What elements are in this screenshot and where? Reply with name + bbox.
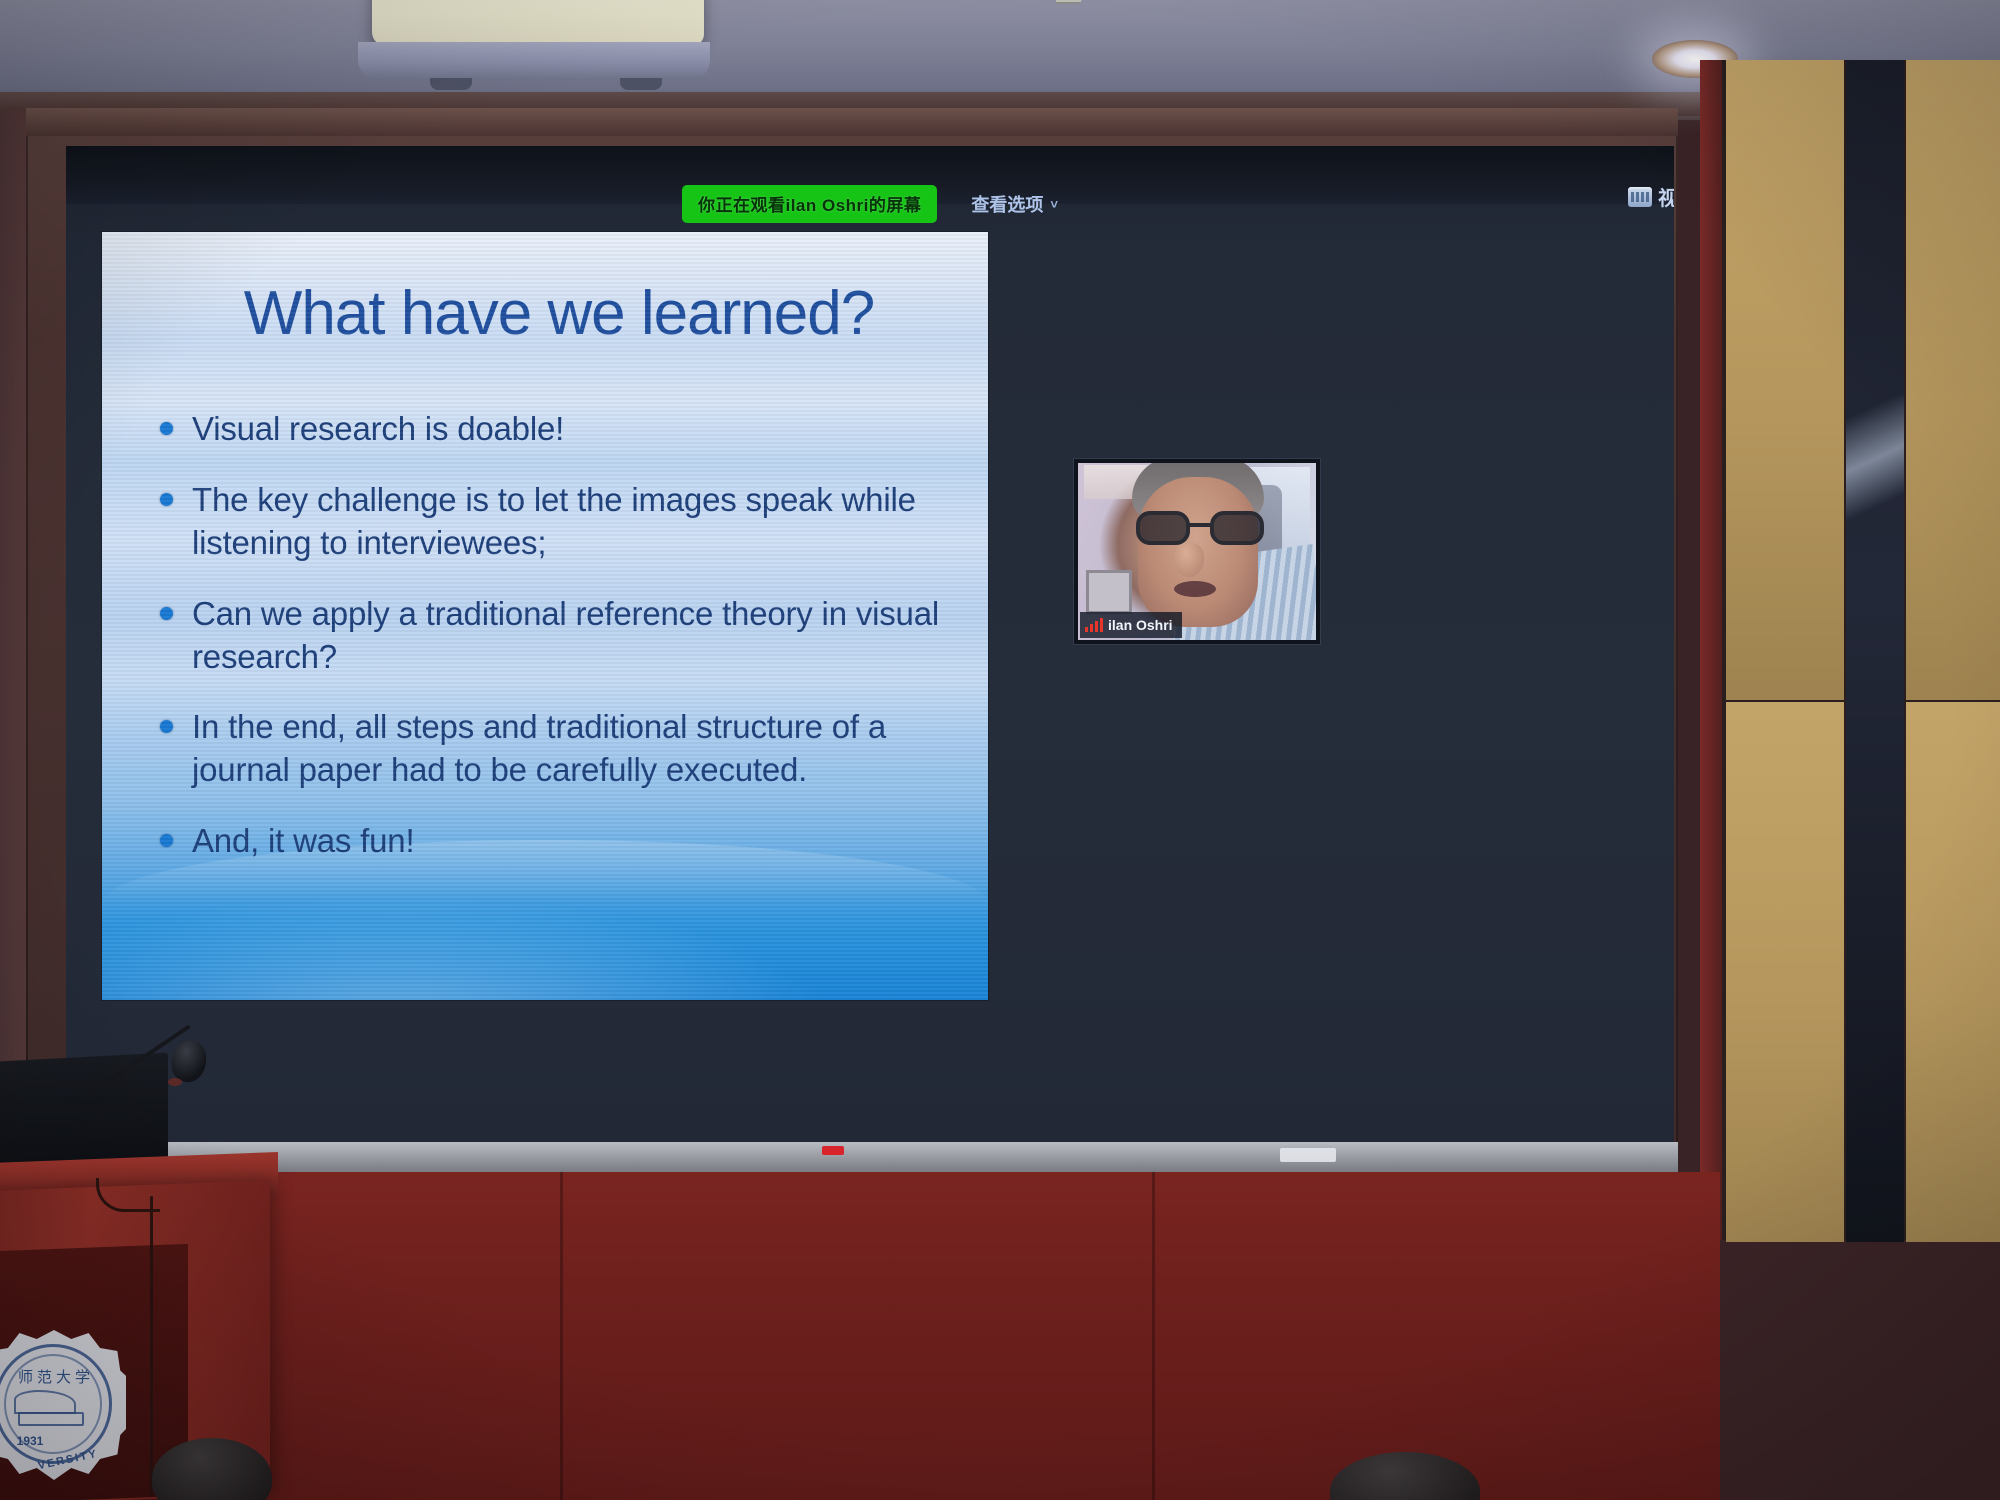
projector-foot-right: [620, 78, 662, 90]
bullet-text: In the end, all steps and traditional st…: [192, 706, 950, 792]
video-background-picture-frame: [1086, 570, 1132, 614]
stage-panel-seam-1: [560, 1172, 563, 1500]
screen-trim-highlight: [1280, 1148, 1336, 1162]
projector-vent: [1056, 0, 1082, 4]
stage-panel-seam-2: [1152, 1172, 1155, 1500]
gallery-view-icon: [1628, 187, 1652, 207]
screen-top-trim: [26, 108, 1678, 136]
powerpoint-slide: What have we learned? Visual research is…: [102, 232, 988, 1000]
bullet-text: Can we apply a traditional reference the…: [192, 593, 950, 679]
university-emblem: 师范大学 1931 VERSITY: [0, 1330, 126, 1480]
zoom-meeting-window: 你正在观看ilan Oshri的屏幕 查看选项 ˅ 视 What have we…: [66, 146, 1674, 1164]
view-options-button[interactable]: 查看选项 ˅: [971, 191, 1058, 217]
wall-strip-reflection: [1846, 240, 1904, 660]
zoom-share-toolbar: 你正在观看ilan Oshri的屏幕 查看选项 ˅: [66, 180, 1674, 228]
view-options-label: 查看选项: [971, 191, 1043, 217]
wall-panel-1: [1726, 60, 1844, 700]
wall-panel-2: [1726, 702, 1844, 1242]
bullet-dot-icon: [160, 607, 173, 620]
list-item: Can we apply a traditional reference the…: [160, 593, 950, 679]
right-wall-red-column: [1700, 60, 1722, 1240]
glasses-lens-left: [1136, 511, 1190, 545]
slide-bullet-list: Visual research is doable! The key chall…: [160, 408, 950, 891]
glasses-lens-right: [1210, 511, 1264, 545]
bullet-dot-icon: [160, 834, 173, 847]
list-item: The key challenge is to let the images s…: [160, 479, 950, 565]
participant-nose: [1174, 543, 1204, 577]
participant-name: ilan Oshri: [1108, 617, 1173, 633]
zoom-view-control-label: 视: [1658, 182, 1674, 211]
bullet-dot-icon: [160, 720, 173, 733]
slide-title: What have we learned?: [102, 278, 988, 349]
projected-image-area: 你正在观看ilan Oshri的屏幕 查看选项 ˅ 视 What have we…: [66, 146, 1674, 1164]
glasses-bridge: [1188, 523, 1212, 527]
microphone-ring: [168, 1078, 182, 1086]
wall-panel-3: [1906, 60, 2000, 700]
participant-mouth: [1174, 581, 1216, 597]
ceiling-projector: EPSON: [372, 0, 704, 46]
projector-base: [358, 42, 710, 80]
bullet-text: Visual research is doable!: [192, 408, 564, 451]
bullet-dot-icon: [160, 422, 173, 435]
projector-foot-left: [430, 78, 472, 90]
participant-video-tile[interactable]: ilan Oshri: [1074, 459, 1320, 644]
lecture-hall-scene: EPSON 你正在观看ilan Oshri的屏幕 查看选项 ˅: [0, 0, 2000, 1500]
wall-panel-4: [1906, 702, 2000, 1242]
podium-cable: [150, 1196, 153, 1496]
list-item: Visual research is doable!: [160, 408, 950, 451]
participant-glasses-icon: [1136, 511, 1264, 545]
emblem-year-label: 1931: [0, 1434, 60, 1448]
bullet-text: The key challenge is to let the images s…: [192, 479, 950, 565]
zoom-view-control[interactable]: 视: [1628, 182, 1674, 211]
emblem-chinese-text: 师范大学: [6, 1366, 106, 1387]
chevron-down-icon: ˅: [1050, 197, 1058, 212]
participant-webcam-feed: ilan Oshri: [1078, 463, 1316, 640]
bullet-dot-icon: [160, 493, 173, 506]
emblem-book-icon: [18, 1412, 84, 1426]
participant-name-badge: ilan Oshri: [1080, 612, 1182, 638]
screen-indicator-light: [822, 1146, 844, 1155]
list-item: And, it was fun!: [160, 820, 950, 863]
signal-bars-icon: [1085, 618, 1103, 632]
bullet-text: And, it was fun!: [192, 820, 414, 863]
list-item: In the end, all steps and traditional st…: [160, 706, 950, 792]
screen-share-status-badge: 你正在观看ilan Oshri的屏幕: [682, 185, 937, 223]
